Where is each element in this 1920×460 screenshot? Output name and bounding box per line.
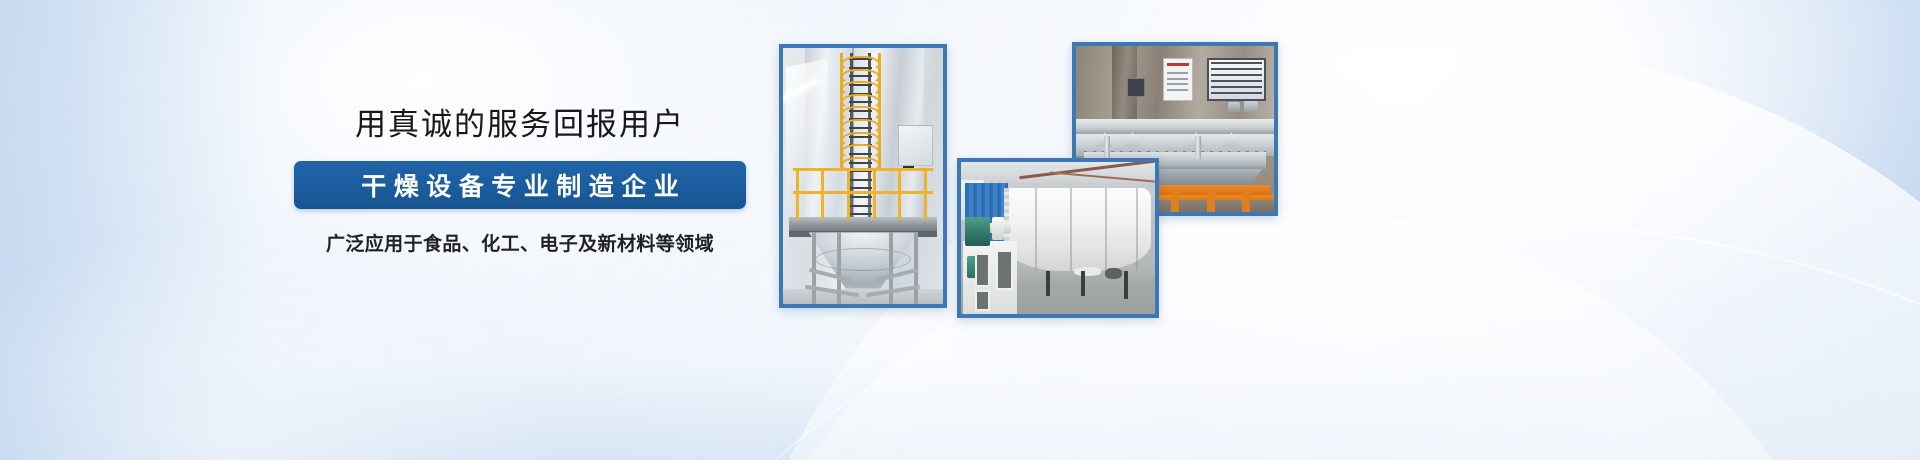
vessel-stiffener-seam xyxy=(1105,188,1107,272)
ladder-cage-post xyxy=(840,53,843,168)
orange-frame-leg xyxy=(1171,192,1179,212)
duct-riser-stack xyxy=(1195,136,1201,159)
blender-vessel-body xyxy=(1004,188,1151,272)
platform-railing-post xyxy=(821,168,824,219)
shaft-coupling xyxy=(992,217,1004,240)
banner-slogan-badge: 干燥设备专业制造企业 xyxy=(294,161,746,209)
notice-line xyxy=(1167,83,1188,85)
notice-line xyxy=(1167,72,1188,74)
duct-riser-stack xyxy=(1104,136,1110,159)
wall-notice-board xyxy=(1163,58,1193,101)
discharge-outlet xyxy=(1074,267,1101,276)
platform-railing-post xyxy=(796,168,799,219)
platform-railing-post xyxy=(924,168,927,219)
gear-motor-upper xyxy=(965,217,990,246)
background-glow-bottom-left xyxy=(0,230,570,460)
product-photo-spray-dryer-tower[interactable] xyxy=(779,44,947,308)
tower-access-hatch xyxy=(898,125,933,166)
overhead-beam xyxy=(1076,119,1274,134)
caged-access-ladder xyxy=(847,53,874,222)
service-platform-deck xyxy=(789,217,936,232)
vessel-stiffener-seam xyxy=(1035,188,1037,272)
banner-subline: 广泛应用于食品、化工、电子及新材料等领域 xyxy=(294,229,746,256)
platform-railing-mid-bar xyxy=(793,191,934,194)
frame-window-opening xyxy=(975,290,991,311)
steel-drum xyxy=(1228,102,1240,112)
platform-railing-post xyxy=(898,168,901,219)
workshop-floor xyxy=(783,289,943,304)
vessel-support-leg xyxy=(1124,271,1128,298)
ladder-rung xyxy=(849,196,872,198)
vessel-stiffener-seam xyxy=(1136,188,1138,272)
barred-window xyxy=(1207,58,1266,101)
ladder-rung xyxy=(849,179,872,181)
frame-window-opening xyxy=(975,253,991,286)
banner-copy-block: 用真诚的服务回报用户 干燥设备专业制造企业 广泛应用于食品、化工、电子及新材料等… xyxy=(294,108,746,256)
ladder-cage-post xyxy=(878,53,881,168)
notice-board-header-icon xyxy=(1167,63,1189,66)
ribbon-blender-scene xyxy=(961,162,1155,314)
wall-electrical-panel xyxy=(1127,78,1145,98)
discharge-pipe xyxy=(1105,268,1122,279)
orange-frame-leg xyxy=(1207,192,1215,212)
ladder-rung xyxy=(849,205,872,207)
notice-line xyxy=(1167,78,1188,80)
platform-railing-post xyxy=(847,168,850,219)
hero-banner: 用真诚的服务回报用户 干燥设备专业制造企业 广泛应用于食品、化工、电子及新材料等… xyxy=(0,0,1920,460)
ladder-rung xyxy=(849,187,872,189)
orange-frame-leg xyxy=(1242,192,1250,212)
vessel-stiffener-seam xyxy=(1070,188,1072,272)
banner-slogan-text: 干燥设备专业制造企业 xyxy=(354,167,687,203)
window-bars-icon xyxy=(1211,62,1262,97)
platform-railing-post xyxy=(873,168,876,219)
spray-dryer-scene xyxy=(783,48,943,304)
ladder-rung xyxy=(849,213,872,215)
notice-line xyxy=(1167,89,1188,91)
frame-window-opening xyxy=(996,250,1013,290)
platform-railing-top-bar xyxy=(793,168,934,171)
vessel-support-leg xyxy=(1046,271,1050,295)
hopper-ring-seam xyxy=(815,248,911,271)
vessel-support-leg xyxy=(1081,271,1085,295)
banner-headline: 用真诚的服务回报用户 xyxy=(294,108,746,143)
background-glow-top-right xyxy=(1220,0,1920,320)
steel-drum xyxy=(1244,101,1258,113)
product-photo-ribbon-blender-mixer[interactable] xyxy=(957,158,1159,318)
